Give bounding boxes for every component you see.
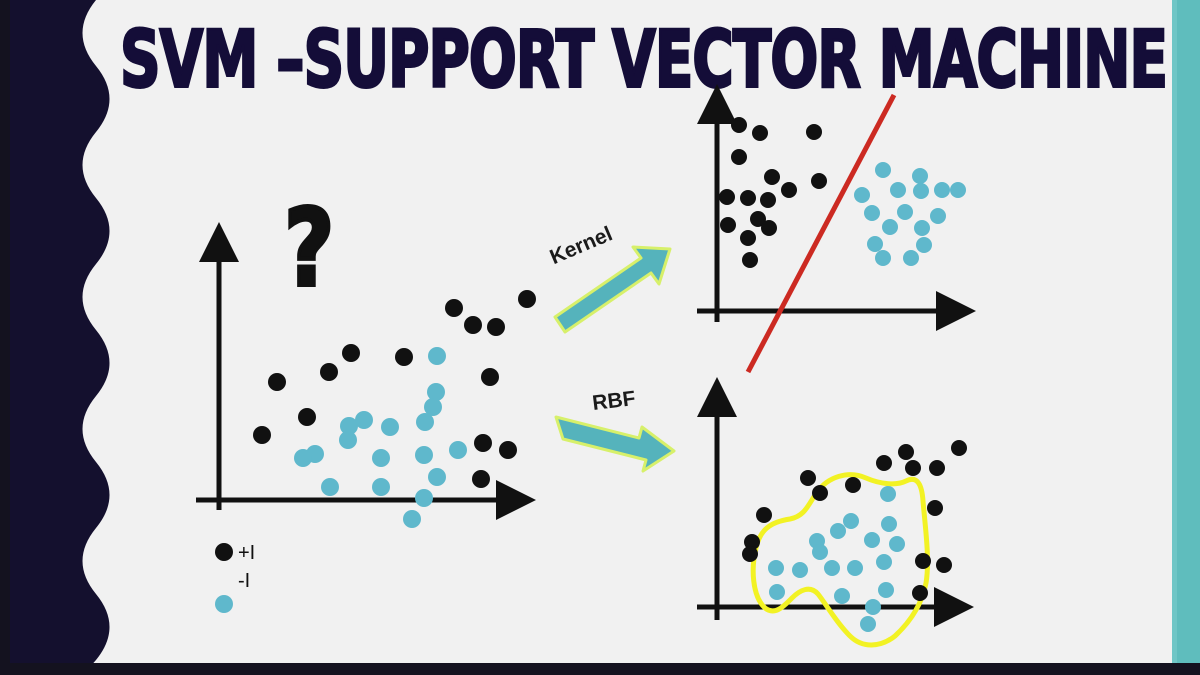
legend-marker-negative — [215, 595, 233, 613]
legend-marker-positive — [215, 543, 233, 561]
slide-canvas: SVM –SUPPORT VECTOR MACHINE — [0, 0, 1200, 675]
diagram-layer — [0, 0, 1200, 675]
plot-rbf-space — [697, 407, 967, 645]
plot2-points-negative — [854, 162, 966, 266]
plot-kernel-space — [697, 95, 966, 372]
plot3-decision-boundary — [753, 475, 927, 645]
legend-label-positive: +I — [238, 542, 255, 565]
rbf-arrow-icon — [556, 417, 674, 471]
legend-label-negative: -I — [238, 570, 250, 593]
plot2-points-positive — [719, 117, 827, 268]
plot3-points-negative — [768, 486, 905, 632]
question-mark-annotation: ? — [284, 196, 334, 302]
